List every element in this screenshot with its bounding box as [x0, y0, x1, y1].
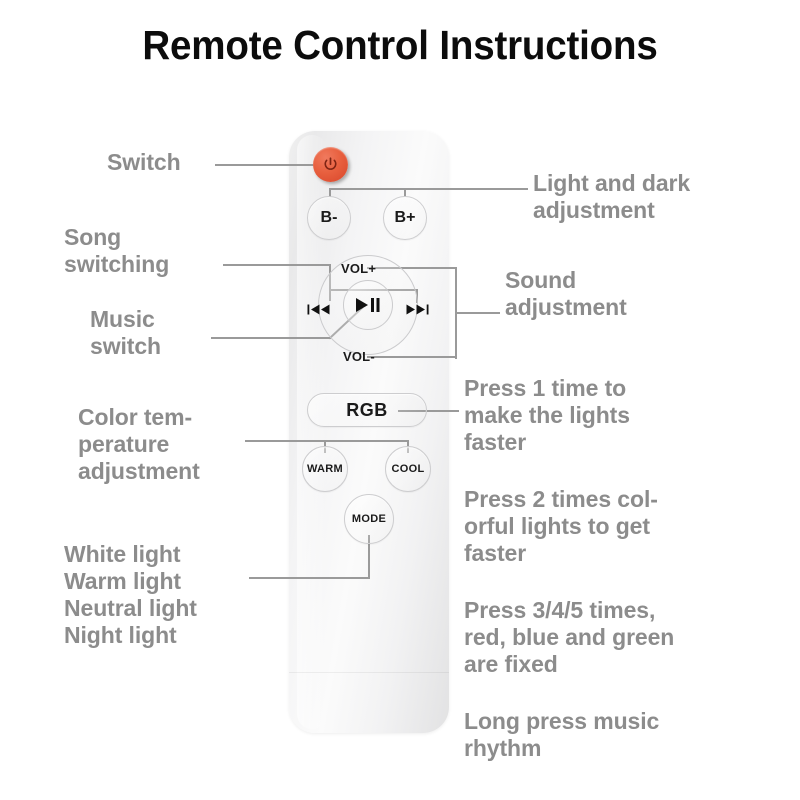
rgb-button[interactable]: RGB — [307, 393, 427, 427]
remote-seam-line — [289, 672, 449, 673]
callout-switch: Switch — [107, 149, 181, 176]
volume-down-button[interactable]: VOL- — [343, 349, 375, 364]
callout-press-2-times: Press 2 times col- orful lights to get f… — [464, 486, 658, 567]
cool-label: COOL — [392, 463, 425, 475]
callout-song-switching: Song switching — [64, 224, 169, 278]
callout-press-1-time: Press 1 time to make the lights faster — [464, 375, 630, 456]
callout-light-modes: White light Warm light Neutral light Nig… — [64, 541, 197, 649]
mode-button[interactable]: MODE — [344, 494, 394, 544]
page-title: Remote Control Instructions — [24, 22, 776, 69]
callout-press-3-4-5-times: Press 3/4/5 times, red, blue and green a… — [464, 597, 674, 678]
instruction-diagram: Remote Control Instructions — [0, 0, 800, 800]
brightness-down-button[interactable]: B- — [307, 196, 351, 240]
callout-sound-adjustment: Sound adjustment — [505, 267, 627, 321]
power-button[interactable] — [313, 147, 348, 182]
warm-button[interactable]: WARM — [302, 446, 348, 492]
brightness-down-label: B- — [321, 209, 338, 227]
cool-button[interactable]: COOL — [385, 446, 431, 492]
callout-light-and-dark-adjustment: Light and dark adjustment — [533, 170, 690, 224]
callout-long-press-music: Long press music rhythm — [464, 708, 659, 762]
power-icon — [322, 156, 339, 173]
next-track-icon[interactable] — [405, 303, 429, 316]
brightness-up-button[interactable]: B+ — [383, 196, 427, 240]
warm-label: WARM — [307, 463, 343, 475]
previous-track-icon[interactable] — [307, 303, 331, 316]
callout-color-temperature-adjustment: Color tem- perature adjustment — [78, 404, 200, 485]
brightness-up-label: B+ — [395, 209, 416, 227]
volume-up-button[interactable]: VOL+ — [341, 261, 376, 276]
rgb-label: RGB — [346, 400, 388, 421]
mode-label: MODE — [352, 513, 386, 525]
callout-music-switch: Music switch — [90, 306, 161, 360]
play-pause-icon[interactable] — [355, 297, 381, 313]
